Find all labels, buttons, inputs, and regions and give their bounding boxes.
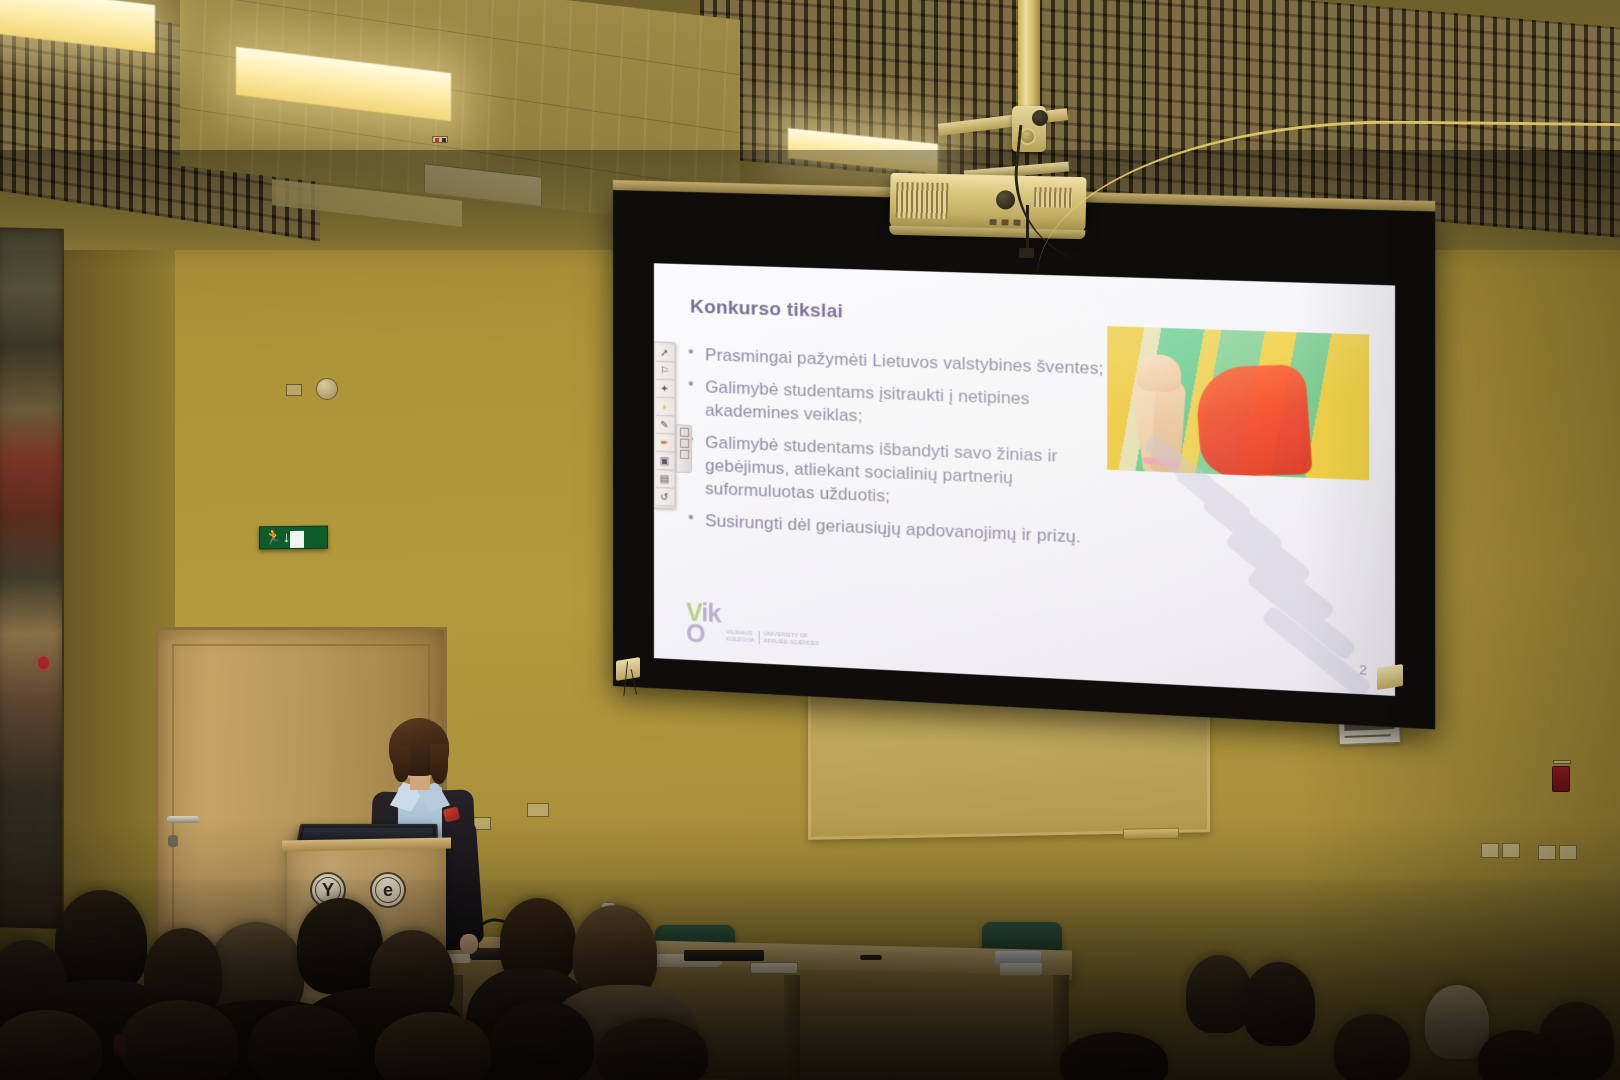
presentation-slide: Konkurso tikslai • Prasmingai pažymėti L… (654, 263, 1395, 696)
gesture-tool-icon[interactable]: ⚐ (655, 362, 673, 380)
slide-watermark-graphic (1128, 460, 1395, 696)
door-lock-icon (168, 835, 178, 847)
exit-door-icon (290, 530, 304, 547)
projector-cable-cap (1032, 110, 1048, 126)
screen-bottom-weight-right (1377, 664, 1403, 690)
bullet-text: Susirungti dėl geriausiųjų apdovanojimų … (705, 509, 1081, 549)
audience-head (596, 1018, 708, 1080)
audience-head-blonde (1425, 985, 1489, 1059)
photo-sheen (1107, 326, 1369, 480)
audience-head (490, 1000, 594, 1080)
projector-lens-icon (996, 190, 1015, 209)
emergency-exit-sign: 🏃 ↓ (259, 526, 328, 550)
speaker-hand (460, 934, 478, 954)
bullet-marker-icon: • (688, 343, 705, 367)
projector-cable-drop (1026, 205, 1029, 253)
handheld-device (114, 1034, 126, 1056)
viko-logo-o: O (686, 619, 705, 648)
podium-top-edge (282, 838, 451, 852)
bullet-text: Prasmingai pažymėti Lietuvos valstybines… (705, 343, 1103, 380)
bullet-marker-icon: • (688, 375, 705, 422)
pen-tool-icon[interactable]: ✎ (655, 417, 673, 435)
audience-head (1186, 955, 1252, 1033)
audience-head (1334, 1014, 1410, 1080)
podium-emblem-right: e (370, 872, 406, 908)
wall-switch[interactable] (527, 803, 549, 817)
black-folder (684, 950, 764, 961)
projector-ports (989, 219, 1020, 226)
wall-outlet-group-1 (1481, 843, 1520, 858)
audience-head (375, 1012, 491, 1080)
running-man-icon: 🏃 (260, 526, 283, 549)
down-arrow-icon: ↓ (283, 526, 291, 549)
viko-logo: VikO VILNIAUS KOLEGIJA UNIVERSITY OF APP… (686, 603, 819, 651)
viko-en-line2: APPLIED SCIENCES (764, 638, 820, 647)
audience-head (120, 1000, 238, 1080)
bullet-text: Galimybė studentams išbandyti savo žinia… (705, 431, 1128, 518)
fire-alarm-call-point[interactable] (1552, 766, 1570, 792)
wall-tapestry-artwork (0, 227, 64, 929)
projector-cable-plug (1019, 248, 1034, 258)
bullet-text: Galimybė studentams įsitraukti į netipin… (705, 375, 1128, 437)
list-item: • Prasmingai pažymėti Lietuvos valstybin… (688, 343, 1128, 382)
slide-photo-flags (1107, 326, 1369, 480)
viko-lt-line2: KOLEGIJA (726, 636, 754, 644)
list-item: • Galimybė studentams išbandyti savo žin… (688, 430, 1128, 518)
wall-bracket (1553, 760, 1571, 764)
wall-outlet-left (286, 384, 302, 396)
list-item: • Galimybė studentams įsitraukti į netip… (688, 375, 1128, 438)
viko-logo-wordmark: VILNIAUS KOLEGIJA UNIVERSITY OF APPLIED … (726, 630, 819, 651)
wall-outlet-group-2 (1538, 845, 1577, 860)
projector-vent-left (896, 182, 949, 219)
iwb-toolbar-submenu[interactable] (676, 424, 692, 473)
bullet-marker-icon: • (688, 508, 705, 532)
pen-on-table (860, 955, 882, 960)
audience-head (1243, 962, 1315, 1046)
door-handle[interactable] (167, 816, 199, 823)
ceiling-sensor-icon (432, 136, 448, 143)
viko-logo-mark: VikO (686, 603, 720, 646)
speaker-hair (389, 718, 449, 776)
audience-head (55, 890, 147, 994)
booklet (1000, 963, 1042, 975)
iwb-submenu-icon-1 (680, 428, 689, 437)
audience-head (248, 1005, 360, 1080)
undo-tool-icon[interactable]: ↺ (655, 489, 673, 507)
whiteboard-marker-tray (1123, 828, 1179, 840)
marker-tool-icon[interactable]: ✒ (655, 435, 673, 453)
iwb-submenu-icon-2 (680, 439, 689, 448)
keyboard-tool-icon[interactable]: ▤ (655, 471, 673, 489)
name-plate (750, 962, 798, 974)
smoke-detector-icon (316, 378, 338, 400)
iwb-submenu-icon-3 (680, 450, 689, 459)
slide-page-number: 2 (1359, 662, 1367, 678)
cursor-tool-icon[interactable]: ➚ (655, 344, 673, 362)
tapestry-red-accent (38, 656, 49, 669)
highlighter-tool-icon[interactable]: ◗ (655, 399, 673, 417)
iwb-toolbar[interactable]: ➚ ⚐ ✦ ◗ ✎ ✒ ▣ ▤ ↺ (654, 341, 676, 509)
slide-bullet-list: • Prasmingai pažymėti Lietuvos valstybin… (688, 343, 1128, 551)
lecture-hall-photo: 🏃 ↓ Konkurso tikslai (0, 0, 1620, 1080)
slide-surface: Konkurso tikslai • Prasmingai pažymėti L… (654, 263, 1395, 696)
pointer-tool-icon[interactable]: ✦ (655, 381, 673, 399)
shape-tool-icon[interactable]: ▣ (655, 453, 673, 471)
table-leg-center (784, 975, 800, 1080)
